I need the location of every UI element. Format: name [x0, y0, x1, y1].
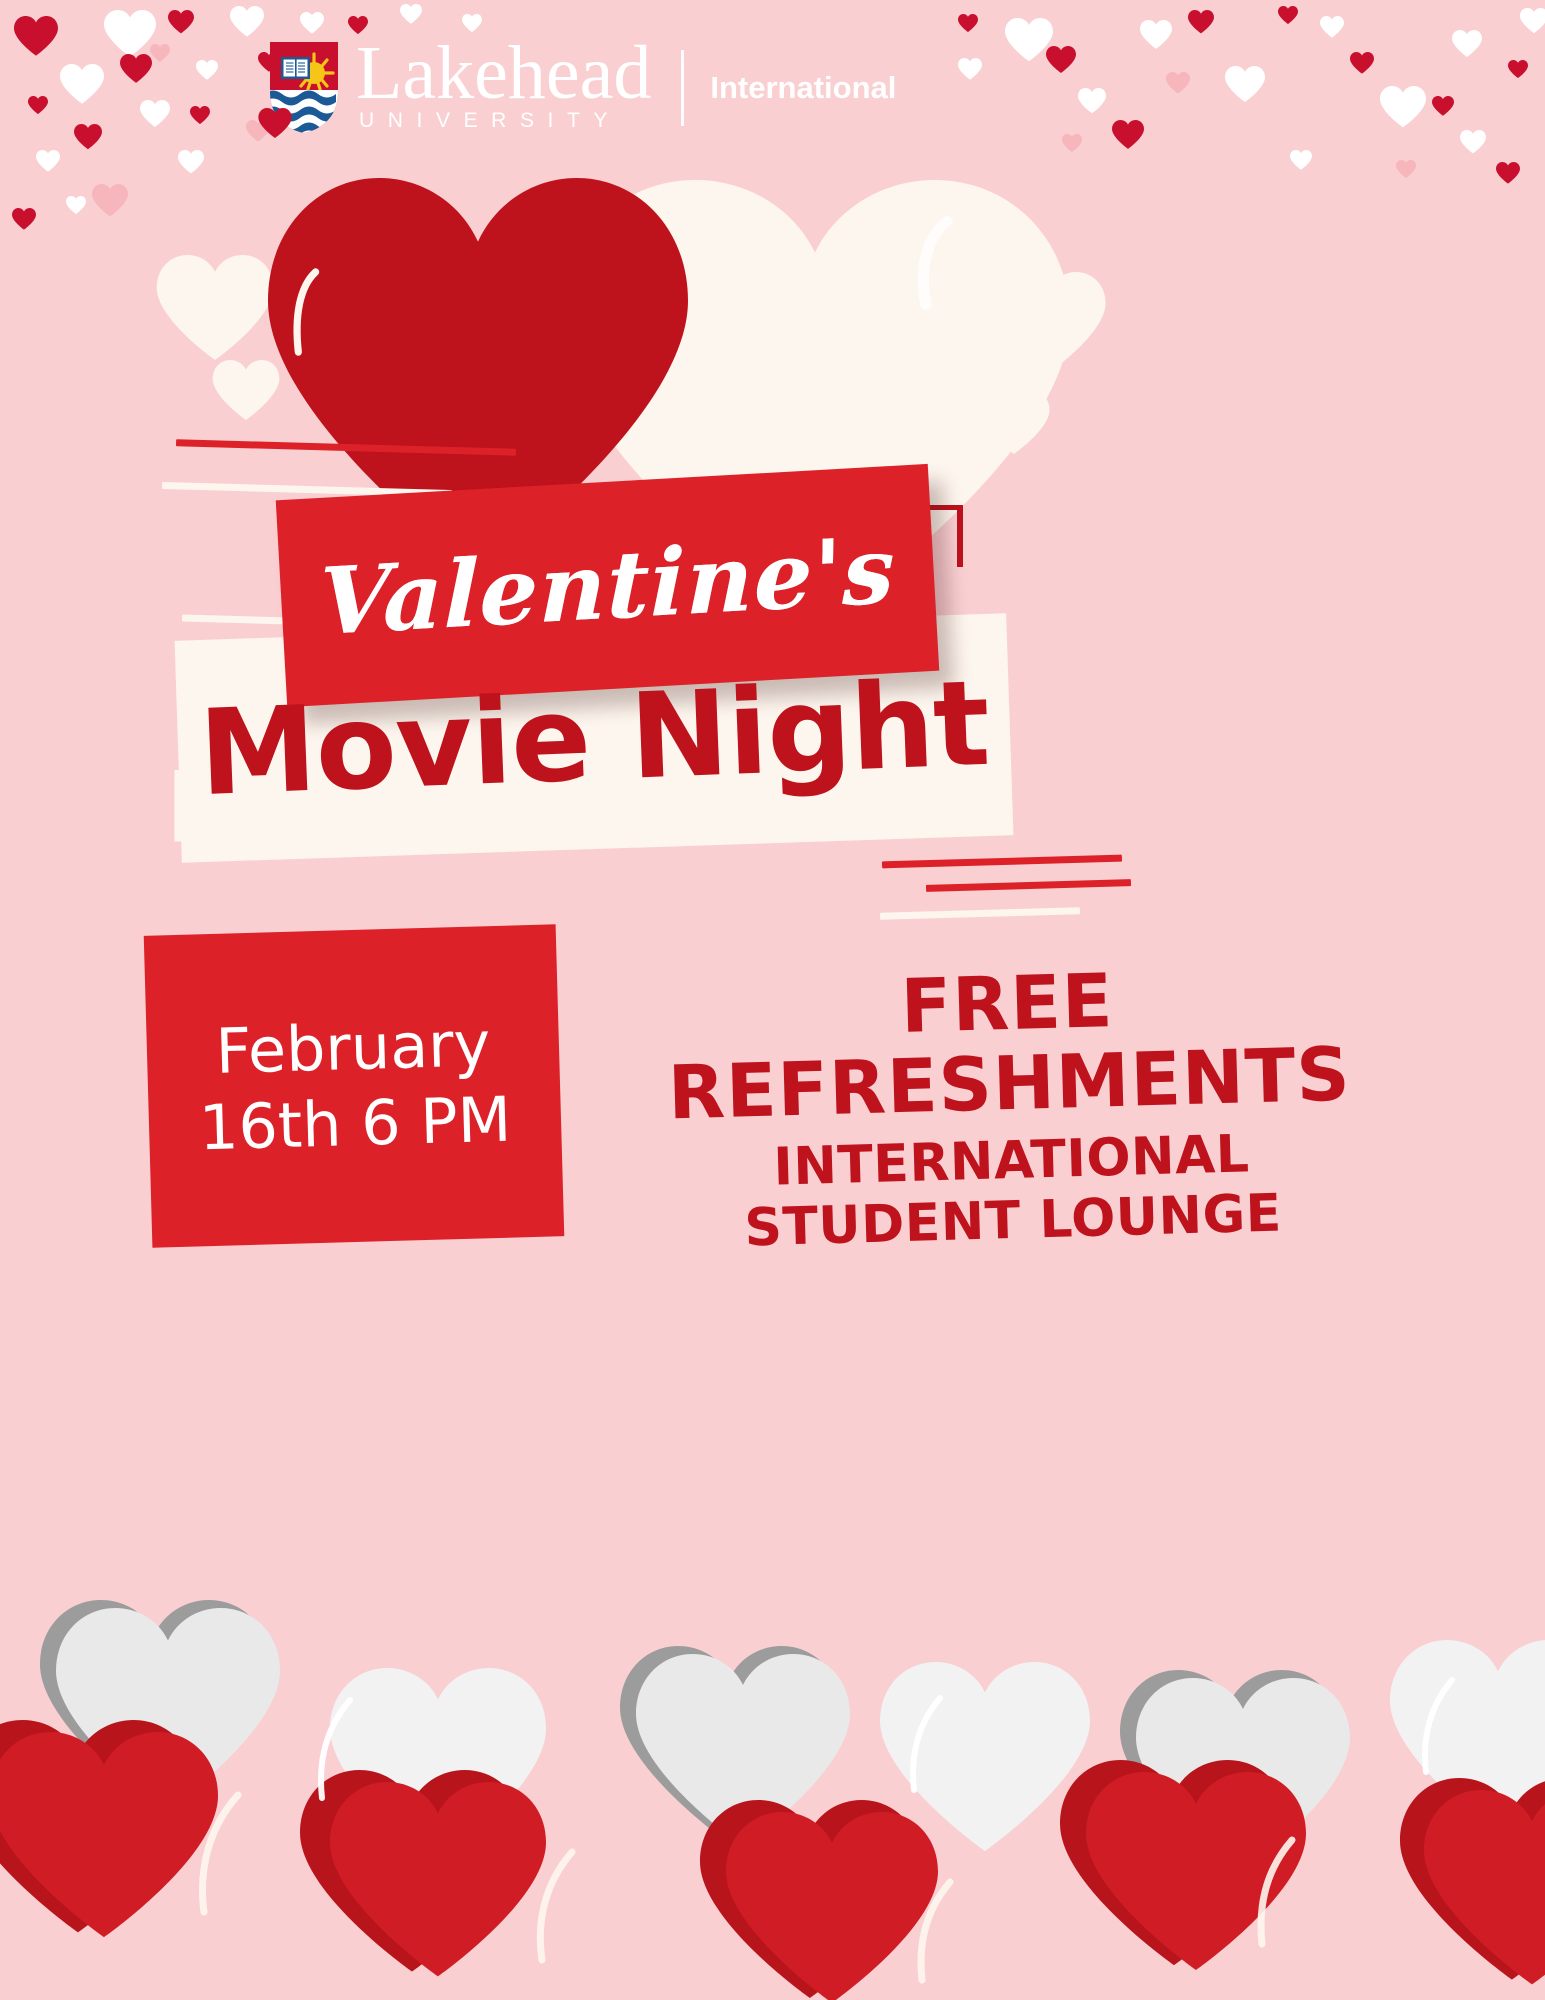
logo-unit-label: International — [710, 70, 896, 106]
date-text: February 16th 6 PM — [144, 924, 565, 1247]
speed-line-red-3 — [926, 879, 1131, 892]
heart-highlight-red — [282, 262, 330, 362]
poster-canvas: Lakehead UNIVERSITY International Valent… — [0, 0, 1545, 2000]
date-line-1: February — [215, 1007, 492, 1090]
date-line-2: 16th 6 PM — [198, 1082, 512, 1166]
info-block: FREE REFRESHMENTS INTERNATIONAL STUDENT … — [556, 952, 1464, 1263]
speed-line-red-2 — [882, 855, 1122, 869]
heart-icon-accent-left — [150, 255, 280, 360]
banner-text: Valentine's — [276, 464, 940, 707]
speed-line-cream-4 — [880, 907, 1080, 920]
logo-divider — [681, 50, 684, 126]
logo-university-name: Lakehead — [356, 42, 651, 106]
lakehead-logo: Lakehead UNIVERSITY International — [268, 40, 896, 135]
heart-icon-crest-accent — [258, 108, 292, 138]
heart-row-icon — [0, 1600, 1545, 2000]
banner-text-label: Valentine's — [319, 515, 896, 655]
logo-university-sub: UNIVERSITY — [356, 109, 651, 133]
heart-highlight-cream — [905, 215, 975, 335]
